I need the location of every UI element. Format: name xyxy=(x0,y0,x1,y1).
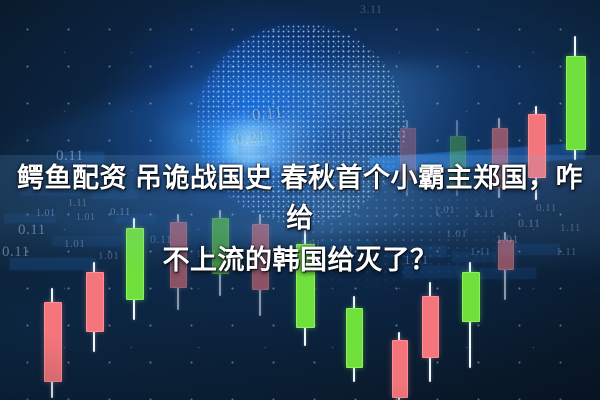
candlestick-bullish xyxy=(346,296,361,382)
price-number: 3.11 xyxy=(360,2,383,17)
headline-line-1: 鳄鱼配资 吊诡战国史 春秋首个小霸主郑国，咋给 xyxy=(14,158,586,238)
headline-text: 鳄鱼配资 吊诡战国史 春秋首个小霸主郑国，咋给 不上流的韩国给灭了？ xyxy=(0,158,600,280)
candle-body xyxy=(86,272,104,332)
candle-body xyxy=(44,302,62,382)
price-number: 1.11 xyxy=(388,130,407,141)
stock-market-banner: 0.110.211.110.111.111.011.010.110.110.11… xyxy=(0,0,600,400)
candlestick-bearish xyxy=(392,332,406,400)
candle-body xyxy=(422,296,439,358)
candlestick-bearish xyxy=(44,288,60,398)
price-number: 0.21 xyxy=(235,128,267,149)
candle-body xyxy=(392,340,408,398)
candlestick-bullish xyxy=(566,36,584,160)
price-number: 1.11 xyxy=(330,128,353,143)
headline-line-2: 不上流的韩国给灭了？ xyxy=(14,240,586,280)
candle-body xyxy=(566,56,586,150)
candlestick-bearish xyxy=(422,282,437,382)
candle-body xyxy=(346,308,363,368)
price-number: 0.11 xyxy=(251,102,284,125)
